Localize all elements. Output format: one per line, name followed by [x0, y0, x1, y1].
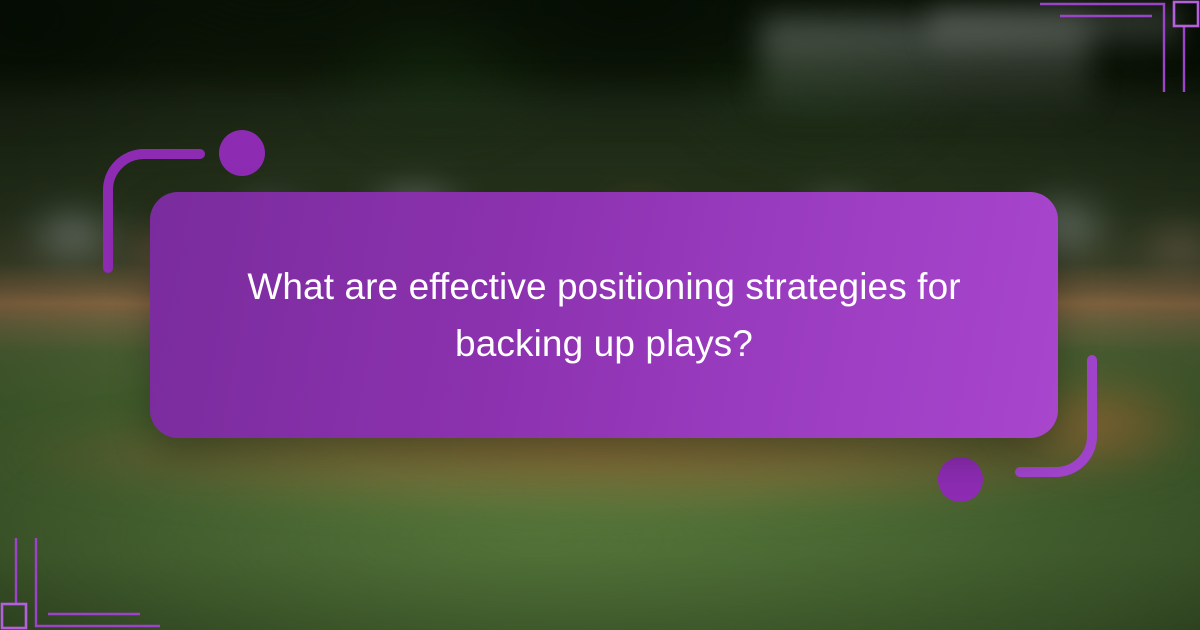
question-card: What are effective positioning strategie…	[150, 192, 1058, 438]
social-card-canvas: What are effective positioning strategie…	[0, 0, 1200, 630]
accent-dot-top-left	[219, 130, 265, 176]
accent-dot-bottom-right	[938, 457, 983, 502]
question-text: What are effective positioning strategie…	[219, 258, 989, 372]
